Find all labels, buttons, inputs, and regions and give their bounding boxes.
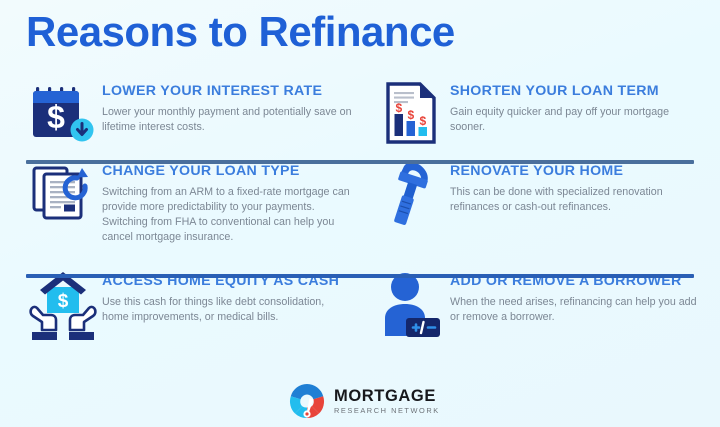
documents-swap-arrow-icon — [26, 158, 102, 234]
reason-body: When the need arises, refinancing can he… — [450, 295, 708, 325]
house-dollar-in-hands-icon: $ — [26, 268, 102, 344]
reason-item-access-home-equity: $ ACCESS HOME EQUITY AS CASH Use this ca… — [0, 268, 360, 372]
calendar-dollar-down-icon: $ — [26, 78, 102, 154]
reason-body: Gain equity quicker and pay off your mor… — [450, 105, 702, 135]
section-divider-1 — [26, 160, 694, 164]
reason-body: Use this cash for things like debt conso… — [102, 295, 352, 325]
reason-item-lower-interest-rate: $ LOWER YOUR INTEREST RATE Lower your mo… — [0, 78, 360, 158]
document-bar-chart-dollar-icon: $ $ $ — [374, 78, 450, 154]
reason-body: Lower your monthly payment and potential… — [102, 105, 352, 135]
reason-heading: CHANGE YOUR LOAN TYPE — [102, 164, 352, 180]
brand-name: MORTGAGE — [334, 388, 440, 405]
reason-body: Switching from an ARM to a fixed-rate mo… — [102, 185, 352, 246]
svg-text:$: $ — [47, 99, 65, 135]
reasons-grid: $ LOWER YOUR INTEREST RATE Lower your mo… — [0, 78, 720, 372]
reason-text: LOWER YOUR INTEREST RATE Lower your mont… — [102, 78, 352, 135]
reason-body: This can be done with specialized renova… — [450, 185, 702, 215]
reason-text: SHORTEN YOUR LOAN TERM Gain equity quick… — [450, 78, 702, 135]
person-plus-minus-icon — [374, 268, 450, 344]
page-title: Reasons to Refinance — [26, 8, 455, 56]
reason-item-add-remove-borrower: ADD OR REMOVE A BORROWER When the need a… — [360, 268, 720, 372]
reason-text: RENOVATE YOUR HOME This can be done with… — [450, 158, 702, 215]
hammer-icon — [374, 158, 450, 234]
brand-logo: MORTGAGE RESEARCH NETWORK — [287, 381, 440, 421]
reason-item-renovate-home: RENOVATE YOUR HOME This can be done with… — [360, 158, 720, 268]
reasons-row-3: $ ACCESS HOME EQUITY AS CASH Use this ca… — [0, 268, 720, 372]
reason-item-shorten-loan-term: $ $ $ SHORTEN YOUR LOAN TERM Gain equity… — [360, 78, 720, 158]
svg-text:$: $ — [58, 291, 69, 312]
infographic-reasons-to-refinance: Reasons to Refinance $ — [0, 0, 720, 427]
reasons-row-1: $ LOWER YOUR INTEREST RATE Lower your mo… — [0, 78, 720, 158]
gauge-dial-icon — [287, 381, 327, 421]
brand-tagline: RESEARCH NETWORK — [334, 407, 440, 414]
reason-item-change-loan-type: CHANGE YOUR LOAN TYPE Switching from an … — [0, 158, 360, 268]
svg-text:$: $ — [395, 101, 402, 115]
reason-heading: RENOVATE YOUR HOME — [450, 164, 702, 180]
section-divider-2 — [26, 274, 694, 278]
brand-text: MORTGAGE RESEARCH NETWORK — [334, 388, 440, 415]
reasons-row-2: CHANGE YOUR LOAN TYPE Switching from an … — [0, 158, 720, 268]
reason-text: CHANGE YOUR LOAN TYPE Switching from an … — [102, 158, 352, 245]
svg-text:$: $ — [419, 114, 426, 128]
reason-heading: SHORTEN YOUR LOAN TERM — [450, 84, 702, 100]
reason-heading: LOWER YOUR INTEREST RATE — [102, 84, 352, 100]
svg-text:$: $ — [407, 108, 414, 122]
